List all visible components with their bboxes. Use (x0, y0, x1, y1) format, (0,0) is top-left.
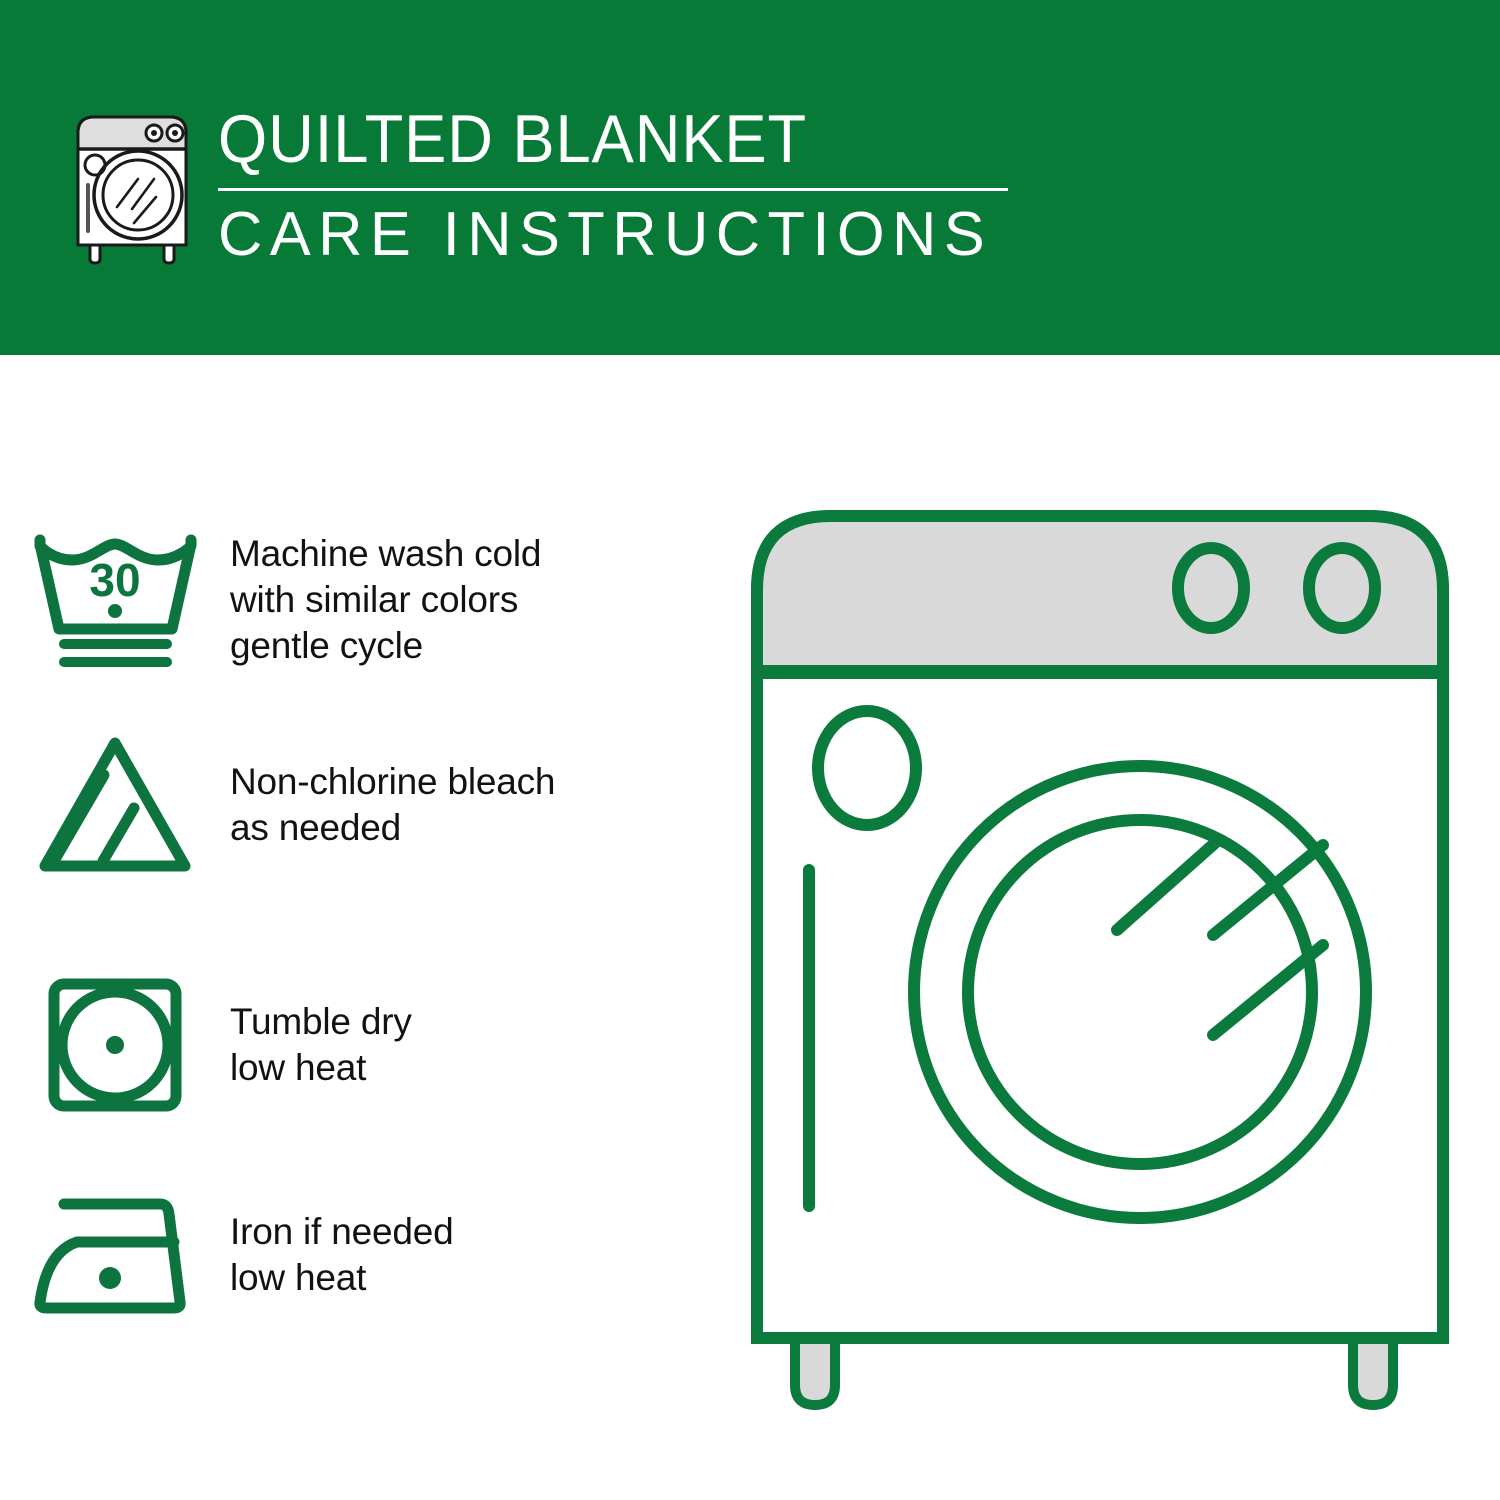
care-row-dry: Tumble dry low heat (0, 970, 740, 1120)
care-text-iron: Iron if needed low heat (230, 1209, 740, 1301)
header-divider (218, 188, 1008, 191)
page-subtitle: CARE INSTRUCTIONS (218, 199, 1010, 271)
care-symbol-dry (0, 976, 230, 1114)
care-row-bleach: Non-chlorine bleach as needed (0, 725, 740, 885)
header-banner: QUILTED BLANKET CARE INSTRUCTIONS (0, 0, 1500, 355)
washer-control-panel (757, 516, 1443, 672)
non-chlorine-bleach-triangle-icon (35, 733, 195, 878)
front-load-washing-machine-illustration (745, 500, 1455, 1430)
tumble-dry-low-heat-icon (46, 976, 184, 1114)
care-symbol-iron (0, 1190, 230, 1320)
care-text-dry: Tumble dry low heat (230, 999, 740, 1091)
care-row-iron: Iron if needed low heat (0, 1180, 740, 1330)
wash-temperature-label: 30 (89, 554, 140, 606)
page-title: QUILTED BLANKET (218, 100, 962, 178)
header-text-block: QUILTED BLANKET CARE INSTRUCTIONS (218, 100, 1018, 271)
washing-machine-icon (62, 107, 202, 267)
iron-low-heat-icon (30, 1190, 200, 1320)
wash-tub-30-gentle-icon: 30 (28, 526, 203, 674)
care-symbol-bleach (0, 733, 230, 878)
care-row-wash: 30 Machine wash cold with similar colors… (0, 515, 740, 685)
care-instruction-list: 30 Machine wash cold with similar colors… (0, 355, 740, 1500)
care-text-wash: Machine wash cold with similar colors ge… (230, 531, 740, 669)
care-symbol-wash: 30 (0, 526, 230, 674)
care-text-bleach: Non-chlorine bleach as needed (230, 759, 740, 851)
